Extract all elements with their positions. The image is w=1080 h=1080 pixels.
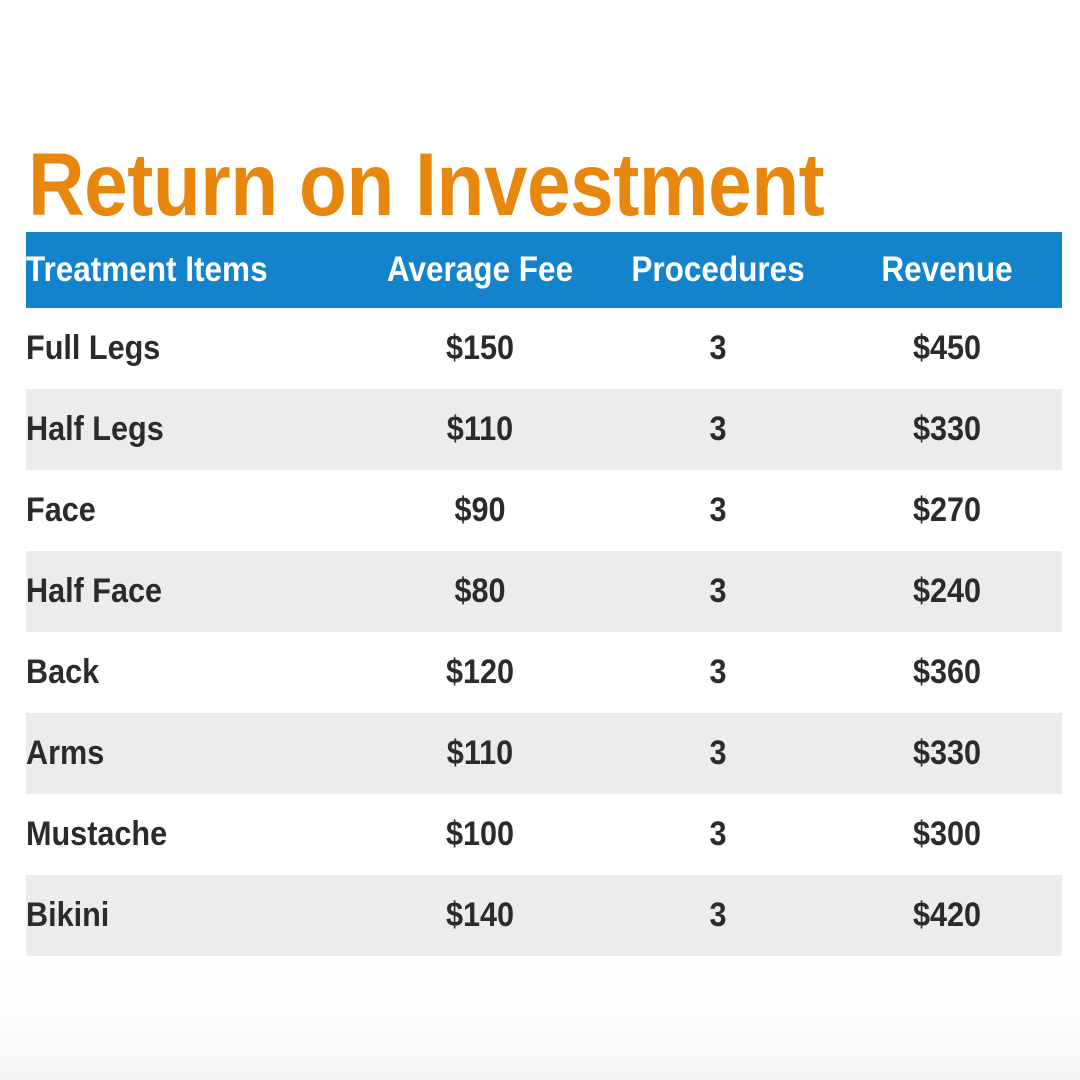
cell-text: Half Face	[26, 572, 323, 611]
cell-text: $140	[368, 896, 591, 935]
column-header-label: Procedures	[615, 250, 820, 290]
cell-revenue: $240	[832, 551, 1062, 632]
cell-text: $110	[368, 410, 591, 449]
cell-text: $240	[844, 572, 1051, 611]
column-header-average-fee: Average Fee	[356, 232, 604, 308]
cell-procedures: 3	[604, 632, 832, 713]
cell-text: $80	[368, 572, 591, 611]
cell-text: $330	[844, 734, 1051, 773]
cell-revenue: $300	[832, 794, 1062, 875]
cell-text: Bikini	[26, 896, 323, 935]
cell-text: Half Legs	[26, 410, 323, 449]
cell-procedures: 3	[604, 308, 832, 389]
table-header: Treatment Items Average Fee Procedures R…	[26, 232, 1062, 308]
table-row: Mustache $100 3 $300	[26, 794, 1062, 875]
cell-revenue: $330	[832, 389, 1062, 470]
table-row: Back $120 3 $360	[26, 632, 1062, 713]
cell-text: 3	[615, 653, 820, 692]
cell-text: Full Legs	[26, 329, 323, 368]
cell-text: $150	[368, 329, 591, 368]
cell-text: Mustache	[26, 815, 323, 854]
cell-text: $100	[368, 815, 591, 854]
cell-procedures: 3	[604, 713, 832, 794]
cell-text: 3	[615, 815, 820, 854]
table-row: Half Face $80 3 $240	[26, 551, 1062, 632]
cell-revenue: $420	[832, 875, 1062, 956]
table-row: Half Legs $110 3 $330	[26, 389, 1062, 470]
cell-treatment: Back	[26, 632, 356, 713]
cell-treatment: Mustache	[26, 794, 356, 875]
cell-treatment: Arms	[26, 713, 356, 794]
cell-text: 3	[615, 734, 820, 773]
cell-text: $360	[844, 653, 1051, 692]
table-row: Bikini $140 3 $420	[26, 875, 1062, 956]
cell-average-fee: $110	[356, 389, 604, 470]
cell-text: $330	[844, 410, 1051, 449]
table-row: Face $90 3 $270	[26, 470, 1062, 551]
cell-text: 3	[615, 410, 820, 449]
cell-average-fee: $100	[356, 794, 604, 875]
table-body: Full Legs $150 3 $450 Half Legs $110 3 $…	[26, 308, 1062, 956]
cell-text: $420	[844, 896, 1051, 935]
column-header-label: Average Fee	[368, 250, 591, 290]
cell-average-fee: $150	[356, 308, 604, 389]
column-header-treatment-items: Treatment Items	[26, 232, 356, 308]
cell-text: $120	[368, 653, 591, 692]
table-row: Full Legs $150 3 $450	[26, 308, 1062, 389]
cell-revenue: $330	[832, 713, 1062, 794]
table-row: Arms $110 3 $330	[26, 713, 1062, 794]
cell-treatment: Face	[26, 470, 356, 551]
table-header-row: Treatment Items Average Fee Procedures R…	[26, 232, 1062, 308]
cell-revenue: $270	[832, 470, 1062, 551]
roi-table: Treatment Items Average Fee Procedures R…	[26, 232, 1062, 956]
cell-procedures: 3	[604, 389, 832, 470]
cell-revenue: $360	[832, 632, 1062, 713]
column-header-label: Revenue	[844, 250, 1051, 290]
cell-text: Arms	[26, 734, 323, 773]
cell-text: Face	[26, 491, 323, 530]
cell-text: $270	[844, 491, 1051, 530]
cell-treatment: Full Legs	[26, 308, 356, 389]
column-header-revenue: Revenue	[832, 232, 1062, 308]
cell-treatment: Half Legs	[26, 389, 356, 470]
roi-slide: Return on Investment Treatment Items Ave…	[0, 0, 1080, 1080]
column-header-label: Treatment Items	[26, 250, 323, 290]
cell-procedures: 3	[604, 470, 832, 551]
cell-treatment: Half Face	[26, 551, 356, 632]
cell-text: 3	[615, 491, 820, 530]
cell-text: $110	[368, 734, 591, 773]
cell-average-fee: $110	[356, 713, 604, 794]
cell-average-fee: $120	[356, 632, 604, 713]
cell-procedures: 3	[604, 551, 832, 632]
cell-average-fee: $90	[356, 470, 604, 551]
cell-text: $450	[844, 329, 1051, 368]
cell-text: 3	[615, 329, 820, 368]
cell-text: Back	[26, 653, 323, 692]
cell-revenue: $450	[832, 308, 1062, 389]
column-header-procedures: Procedures	[604, 232, 832, 308]
cell-text: 3	[615, 572, 820, 611]
cell-text: 3	[615, 896, 820, 935]
cell-procedures: 3	[604, 794, 832, 875]
page-title: Return on Investment	[28, 140, 824, 229]
cell-procedures: 3	[604, 875, 832, 956]
cell-treatment: Bikini	[26, 875, 356, 956]
cell-text: $90	[368, 491, 591, 530]
cell-average-fee: $80	[356, 551, 604, 632]
cell-average-fee: $140	[356, 875, 604, 956]
cell-text: $300	[844, 815, 1051, 854]
